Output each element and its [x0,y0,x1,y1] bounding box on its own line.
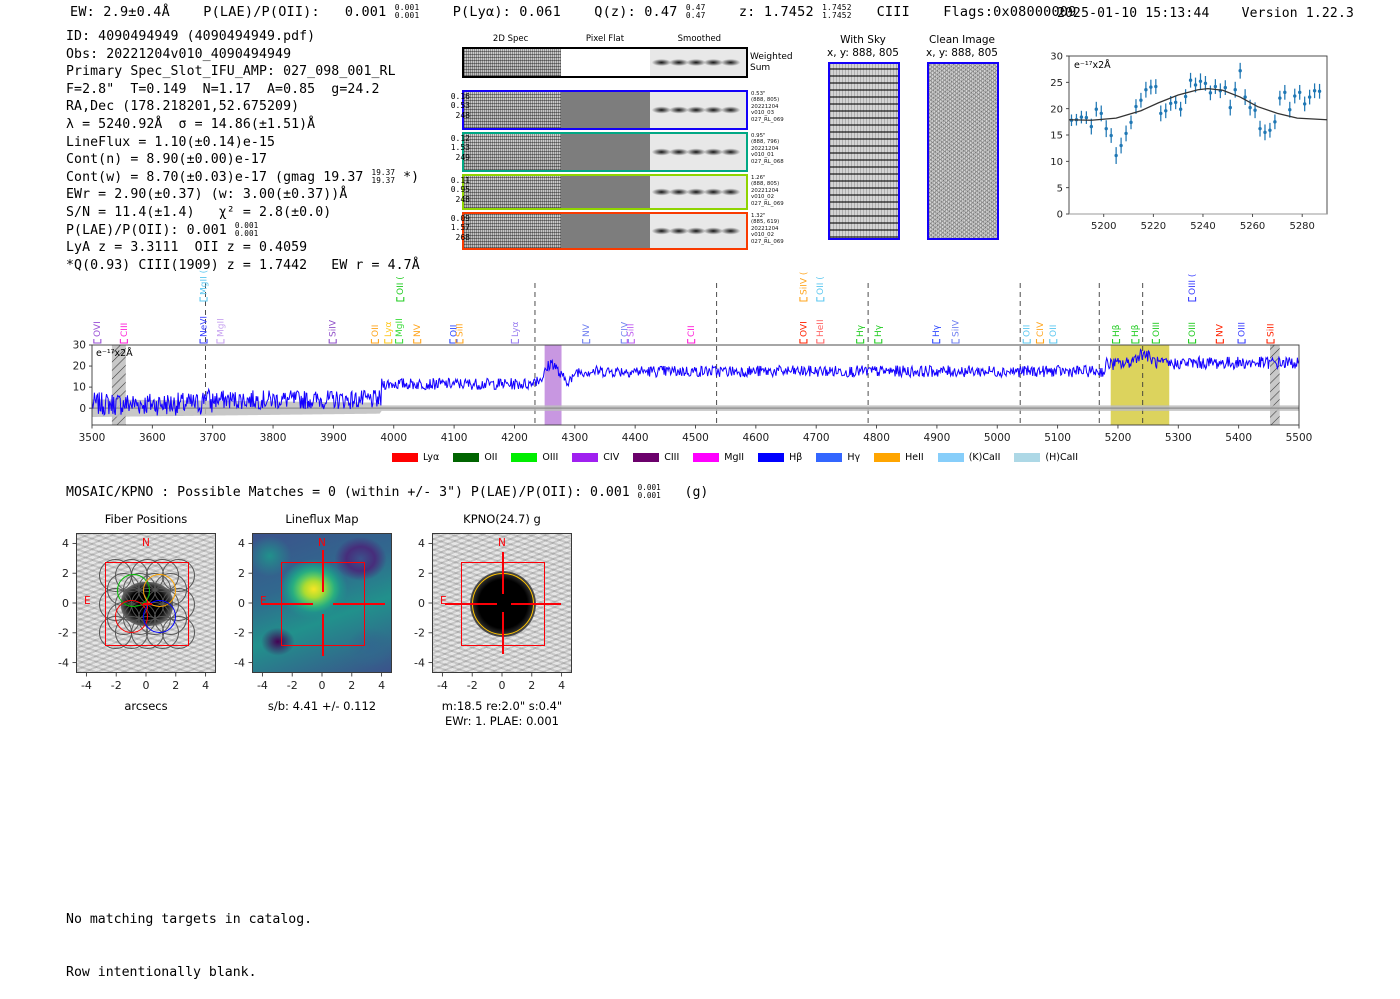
spectrum-line-label: SiIV ( [799,272,809,301]
info-plae: P(LAE)/P(OII): 0.001 0.0010.001 [66,222,420,240]
svg-text:10: 10 [1050,157,1063,168]
info-gmag-range: 19.3719.37 [372,169,396,185]
legend-label: Hβ [789,452,802,463]
info-lambda: λ = 5240.92Å σ = 14.86(±1.51)Å [66,116,420,134]
footer-note: No matching targets in catalog. Row inte… [66,876,312,999]
svg-text:4300: 4300 [561,432,588,444]
legend-item: (K)CaII [938,452,1001,463]
emission-line-zoom-chart: 05101520253052005220524052605280e⁻¹⁷x2Å [1035,48,1335,248]
svg-text:SiII: SiII [1266,323,1276,337]
spectrum-line-label: OIII [1237,322,1247,343]
spec2d-2dspec-cell [464,134,561,170]
legend-item: CIV [572,452,619,463]
svg-text:-4: -4 [257,679,268,692]
cutout-axes-1: -4-4-2-2002244 [212,525,412,725]
svg-text:Hβ: Hβ [1112,324,1122,337]
info-redshifts: LyA z = 3.3111 OII z = 0.4059 [66,239,420,257]
info-plae-range: 0.0010.001 [235,222,259,238]
svg-text:0: 0 [418,597,425,610]
spectrum-line-label: Hγ [874,324,884,343]
svg-text:0: 0 [319,679,326,692]
svg-text:5260: 5260 [1240,221,1265,232]
spec2d-strip [462,90,748,130]
svg-text:NV: NV [413,323,423,337]
svg-text:2: 2 [62,567,69,580]
mosaic-post: (g) [685,485,709,500]
svg-text:HeII: HeII [816,319,826,337]
spec2d-2dspec-cell [464,92,561,128]
header-plae-value: 0.001 [345,4,387,20]
svg-text:4: 4 [238,537,245,550]
mosaic-pre: MOSAIC/KPNO : Possible Matches = 0 (with… [66,485,630,500]
svg-text:-4: -4 [234,656,245,669]
svg-text:25: 25 [1050,78,1063,89]
legend-item: MgII [693,452,744,463]
svg-text:SiII: SiII [627,323,637,337]
svg-text:5300: 5300 [1165,432,1192,444]
thumb-coords: x, y: 888, 805 [887,47,1037,60]
svg-text:NV: NV [1216,323,1226,337]
svg-text:4: 4 [418,537,425,550]
svg-text:4800: 4800 [863,432,890,444]
legend-label: HeII [905,452,924,463]
svg-text:-4: -4 [58,656,69,669]
legend-label: CIII [664,452,679,463]
cutout-title-2: KPNO(24.7) g [402,512,602,526]
svg-text:4200: 4200 [501,432,528,444]
legend-label: OIII [542,452,558,463]
spectrum-line-label: Lyα [384,321,394,343]
svg-text:15: 15 [1050,131,1063,142]
mosaic-match-line: MOSAIC/KPNO : Possible Matches = 0 (with… [66,484,708,500]
spectrum-line-label: OIII [1188,322,1198,343]
legend-item: Lyα [392,452,439,463]
svg-text:4: 4 [62,537,69,550]
svg-text:4: 4 [558,679,565,692]
spec2d-pixelflat-cell [561,176,650,208]
legend-swatch [572,453,598,462]
spec2d-row-metrics: 0.09 1.57 268 [444,214,470,242]
spec2d-smoothed-cell [650,214,746,248]
object-info-block: ID: 4090494949 (4090494949.pdf) Obs: 202… [66,28,420,274]
cutout-axes-2: -4-4-2-2002244 [392,525,592,725]
spec2d-pixelflat-cell [561,49,650,76]
spec2d-pixelflat-cell [561,214,650,248]
legend-swatch [453,453,479,462]
spec2d-smoothed-cell [650,176,746,208]
svg-text:-2: -2 [287,679,298,692]
header-summary-line: EW: 2.9±0.4Å P(LAE)/P(OII): 0.001 0.0010… [70,4,1076,20]
svg-text:0: 0 [499,679,506,692]
header-qz: Q(z): 0.47 [594,4,677,20]
spectrum-line-label: NV [582,323,592,343]
spec2d-weighted-sum-label: Weighted Sum [750,52,793,73]
cutout-sub1-2: m:18.5 re:2.0" s:0.4" [387,699,617,713]
svg-text:0: 0 [143,679,150,692]
svg-text:2: 2 [238,567,245,580]
spectrum-line-label: MgII [216,318,226,343]
legend-swatch [816,453,842,462]
header-z: z: 1.7452 [739,4,814,20]
svg-text:OVI: OVI [93,321,103,337]
spec2d-row-metrics: 0.11 0.95 248 [444,176,470,204]
svg-text:CII: CII [687,325,697,337]
legend-label: Lyα [423,452,439,463]
spectrum-line-label: OIII [1152,322,1162,343]
spectrum-line-label: OVI [799,321,809,343]
header-plya: P(Lyα): 0.061 [453,4,561,20]
svg-text:SiII: SiII [455,323,465,337]
legend-swatch [392,453,418,462]
spectrum-line-label: OII [1049,325,1059,343]
svg-text:SiIV: SiIV [329,319,339,337]
svg-text:0: 0 [79,403,86,415]
header-plae-label: P(LAE)/P(OII): [203,4,320,20]
spectrum-shaded-band [1270,345,1280,425]
svg-text:MgII (: MgII ( [199,270,209,295]
info-radec: RA,Dec (178.218201,52.675209) [66,98,420,116]
legend-item: (H)CaII [1014,452,1078,463]
info-ewr: EWr = 2.90(±0.37) (w: 3.00(±0.37))Å [66,186,420,204]
svg-text:2: 2 [418,567,425,580]
svg-text:4400: 4400 [622,432,649,444]
spectrum-line-label: OII [1023,325,1033,343]
svg-text:0: 0 [62,597,69,610]
spec2d-strip [462,174,748,210]
spectrum-line-label: NV [413,323,423,343]
svg-text:OIII (: OIII ( [1188,274,1198,295]
spec2d-row-metrics: 0.16 0.53 248 [444,92,470,120]
legend-swatch [874,453,900,462]
legend-swatch [1014,453,1040,462]
cutout-axes-0: -4-4-2-2002244 [36,525,236,725]
spectrum-line-label: SiIV [951,319,961,343]
svg-text:5100: 5100 [1044,432,1071,444]
spectrum-line-label: OII [371,325,381,343]
legend-item: OII [453,452,497,463]
zoom-chart-units: e⁻¹⁷x2Å [1074,59,1111,71]
header-plae-range: 0.0010.001 [395,4,420,20]
mosaic-plae-range: 0.0010.001 [638,484,661,500]
spec2d-row-annotation: 1.32" (885, 619) 20221204 v010_02 027_RL… [751,213,807,245]
spec2d-row-annotation: 0.53" (888, 805) 20221204 v010_03 027_RL… [751,91,807,123]
svg-text:20: 20 [1050,104,1063,115]
svg-text:5220: 5220 [1141,221,1166,232]
spectrum-line-label: CII [687,325,697,343]
spectrum-line-label: NeVI [199,316,209,343]
spectrum-line-label: CIV [1036,321,1046,343]
spectrum-line-label: Lyα [511,321,521,343]
svg-text:Lyα: Lyα [384,321,394,337]
spectrum-line-label: MgII [395,318,405,343]
header-qz-range: 0.470.47 [686,4,706,20]
svg-text:5200: 5200 [1105,432,1132,444]
info-snr: S/N = 11.4(±1.4) χ² = 2.8(±0.0) [66,204,420,222]
spectrum-legend: LyαOIIOIIICIVCIIIMgIIHβHγHeII(K)CaII(H)C… [392,452,1078,463]
svg-text:4000: 4000 [380,432,407,444]
svg-text:4700: 4700 [803,432,830,444]
spectrum-line-label: SiII [1266,323,1276,343]
legend-swatch [938,453,964,462]
svg-text:-2: -2 [234,627,245,640]
spec2d-2dspec-cell [464,49,561,76]
header-datetime: 2025-01-10 15:13:44 [1057,6,1210,21]
svg-text:4100: 4100 [441,432,468,444]
svg-text:2: 2 [528,679,535,692]
svg-text:-4: -4 [414,656,425,669]
spec2d-title-1: Pixel Flat [560,34,650,44]
svg-text:-2: -2 [58,627,69,640]
thumb-name: Clean Image [887,34,1037,47]
header-ew: EW: 2.9±0.4Å [70,4,170,20]
svg-text:CIII: CIII [120,323,130,337]
with-sky-image [828,62,900,240]
svg-text:OIII: OIII [1152,322,1162,337]
svg-text:2: 2 [172,679,179,692]
svg-text:OII: OII [371,325,381,337]
svg-text:MgII: MgII [395,318,405,337]
svg-text:5500: 5500 [1286,432,1313,444]
svg-text:Hγ: Hγ [856,324,866,337]
spec2d-strip [462,212,748,250]
legend-swatch [758,453,784,462]
legend-item: OIII [511,452,558,463]
svg-text:3600: 3600 [139,432,166,444]
svg-text:Hγ: Hγ [932,324,942,337]
svg-text:OIII: OIII [1188,322,1198,337]
legend-label: (H)CaII [1045,452,1078,463]
spectrum-line-label: OII ( [816,276,826,301]
legend-item: Hγ [816,452,860,463]
svg-text:5240: 5240 [1190,221,1215,232]
svg-text:3500: 3500 [79,432,106,444]
svg-text:Hβ: Hβ [1131,324,1141,337]
legend-label: CIV [603,452,619,463]
svg-text:2: 2 [348,679,355,692]
cutout-title-0: Fiber Positions [46,512,246,526]
svg-text:5: 5 [1057,183,1063,194]
spec2d-strip [462,132,748,172]
header-timestamp-version: 2025-01-10 15:13:44 Version 1.22.3 [1057,6,1354,21]
spectrum-line-label: MgII ( [199,270,209,301]
legend-label: MgII [724,452,744,463]
zoom-chart-svg: 05101520253052005220524052605280e⁻¹⁷x2Å [1035,48,1335,248]
spectrum-line-label: HeII [816,319,826,343]
svg-text:10: 10 [73,382,86,394]
spectrum-units: e⁻¹⁷x2Å [96,347,133,359]
header-version: Version 1.22.3 [1242,6,1354,21]
svg-text:SiIV: SiIV [951,319,961,337]
spectrum-line-label: NV [1216,323,1226,343]
svg-text:5400: 5400 [1225,432,1252,444]
info-id: ID: 4090494949 (4090494949.pdf) [66,28,420,46]
info-cont-n: Cont(n) = 8.90(±0.00)e-17 [66,151,420,169]
svg-text:OII: OII [1049,325,1059,337]
svg-text:5000: 5000 [984,432,1011,444]
svg-text:OVI: OVI [799,321,809,337]
spec2d-pixelflat-cell [561,134,650,170]
spectrum-shaded-band [545,345,562,425]
svg-text:30: 30 [73,340,86,352]
legend-item: HeII [874,452,924,463]
legend-label: (K)CaII [969,452,1001,463]
footer-line-2: Row intentionally blank. [66,964,312,982]
svg-text:-2: -2 [414,627,425,640]
spec2d-2dspec-cell [464,176,561,208]
spec2d-row-annotation: 1.26" (888, 805) 20221204 v010_02 027_RL… [751,175,807,207]
spec2d-title-0: 2D Spec [466,34,556,44]
svg-text:4: 4 [378,679,385,692]
info-cont-w: Cont(w) = 8.70(±0.03)e-17 (gmag 19.37 19… [66,169,420,187]
spectrum-line-label: Hγ [932,324,942,343]
svg-text:-2: -2 [467,679,478,692]
svg-text:0: 0 [1057,210,1063,221]
info-seeing: F=2.8" T=0.149 N=1.17 A=0.85 g=24.2 [66,81,420,99]
svg-text:MgII: MgII [216,318,226,337]
spectrum-line-label: SiIV [329,319,339,343]
spec2d-smoothed-cell [650,92,746,128]
svg-text:5280: 5280 [1289,221,1314,232]
footer-line-1: No matching targets in catalog. [66,911,312,929]
svg-text:Lyα: Lyα [511,321,521,337]
spectrum-line-label: Hβ [1131,324,1141,343]
svg-text:OII (: OII ( [396,276,406,295]
cutout-title-1: Lineflux Map [222,512,422,526]
cutout-sub2-2: EWr: 1. PLAE: 0.001 [387,714,617,728]
svg-text:4600: 4600 [742,432,769,444]
svg-text:NV: NV [582,323,592,337]
svg-text:3800: 3800 [260,432,287,444]
spectrum-line-label: Hγ [856,324,866,343]
svg-text:5200: 5200 [1091,221,1116,232]
legend-item: CIII [633,452,679,463]
thumb-caption-1: Clean Imagex, y: 888, 805 [887,34,1037,60]
svg-text:OII (: OII ( [816,276,826,295]
spec2d-smoothed-cell [650,49,746,76]
legend-swatch [511,453,537,462]
spectrum-line-label: CIII [120,323,130,343]
header-line-id: CIII [877,4,910,20]
svg-text:0: 0 [238,597,245,610]
spec2d-pixelflat-cell [561,92,650,128]
legend-label: Hγ [847,452,860,463]
svg-text:-2: -2 [111,679,122,692]
svg-text:-4: -4 [81,679,92,692]
spectrum-line-label: OVI [93,321,103,343]
svg-text:-4: -4 [437,679,448,692]
spec2d-row-metrics: 0.12 1.53 249 [444,134,470,162]
svg-text:4500: 4500 [682,432,709,444]
spec2d-2dspec-cell [464,214,561,248]
spec2d-title-2: Smoothed [654,34,744,44]
legend-swatch [693,453,719,462]
info-primary: Primary Spec_Slot_IFU_AMP: 027_098_001_R… [66,63,420,81]
spectrum-line-label: OII ( [396,276,406,301]
svg-text:3900: 3900 [320,432,347,444]
info-lineflux: LineFlux = 1.10(±0.14)e-15 [66,134,420,152]
header-z-range: 1.74521.7452 [822,4,851,20]
svg-text:20: 20 [73,361,86,373]
legend-item: Hβ [758,452,802,463]
svg-text:SiIV (: SiIV ( [799,272,809,295]
clean-image [927,62,999,240]
spectrum-line-label: Hβ [1112,324,1122,343]
legend-swatch [633,453,659,462]
svg-text:NeVI: NeVI [199,316,209,337]
spectrum-line-label: OIII ( [1188,274,1198,301]
svg-text:Hγ: Hγ [874,324,884,337]
svg-text:3700: 3700 [199,432,226,444]
svg-text:CIV: CIV [1036,321,1046,337]
legend-label: OII [484,452,497,463]
svg-text:OII: OII [1023,325,1033,337]
spec2d-strip [462,47,748,78]
spec2d-row-annotation: 0.95" (888, 796) 20221204 v010_01 027_RL… [751,133,807,165]
svg-text:OIII: OIII [1237,322,1247,337]
svg-text:4: 4 [202,679,209,692]
svg-text:4900: 4900 [924,432,951,444]
info-obs: Obs: 20221204v010_4090494949 [66,46,420,64]
svg-text:30: 30 [1050,52,1063,63]
spec2d-smoothed-cell [650,134,746,170]
